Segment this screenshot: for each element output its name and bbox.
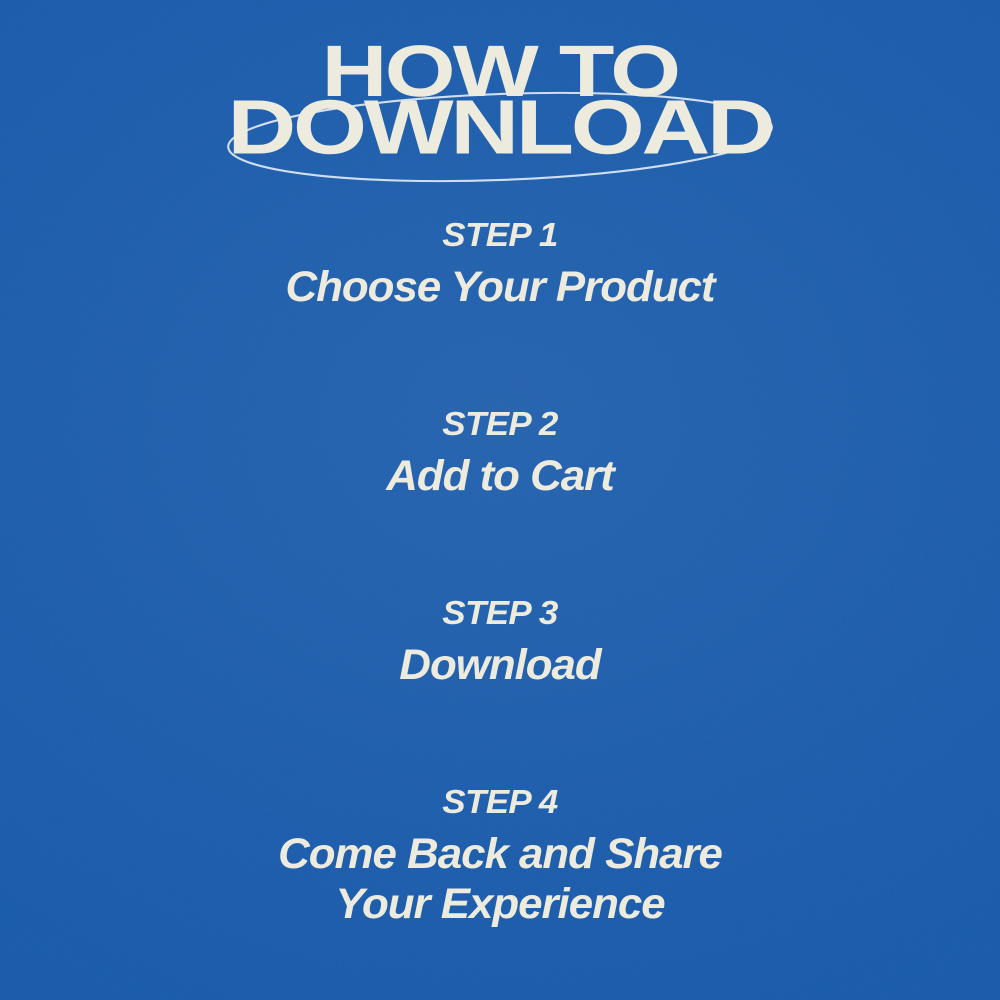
page-title-line2: DOWNLOAD	[0, 89, 1000, 166]
step-description-4-line1: Come Back and Share	[278, 830, 722, 878]
step-description-2-line1: Add to Cart	[386, 452, 614, 500]
step-description-3-line1: Download	[399, 641, 600, 689]
step-label-4: STEP 4	[0, 767, 1000, 821]
step-description-3: Download	[0, 632, 1000, 690]
step-description-4-line2: Your Experience	[0, 879, 1000, 929]
poster-canvas: HOW TO DOWNLOAD STEP 1 Choose Your Produ…	[0, 0, 1000, 1000]
step-description-4: Come Back and Share Your Experience	[0, 821, 1000, 929]
poster-header: HOW TO DOWNLOAD	[0, 0, 1000, 200]
step-description-2: Add to Cart	[0, 443, 1000, 501]
step-label-3: STEP 3	[0, 578, 1000, 632]
step-description-1: Choose Your Product	[0, 254, 1000, 312]
step-item-4: STEP 4 Come Back and Share Your Experien…	[0, 767, 1000, 956]
step-item-1: STEP 1 Choose Your Product	[0, 200, 1000, 389]
step-description-1-line1: Choose Your Product	[285, 263, 714, 311]
steps-list: STEP 1 Choose Your Product STEP 2 Add to…	[0, 200, 1000, 956]
step-label-2: STEP 2	[0, 389, 1000, 443]
step-item-3: STEP 3 Download	[0, 578, 1000, 767]
step-item-2: STEP 2 Add to Cart	[0, 389, 1000, 578]
step-label-1: STEP 1	[0, 200, 1000, 254]
